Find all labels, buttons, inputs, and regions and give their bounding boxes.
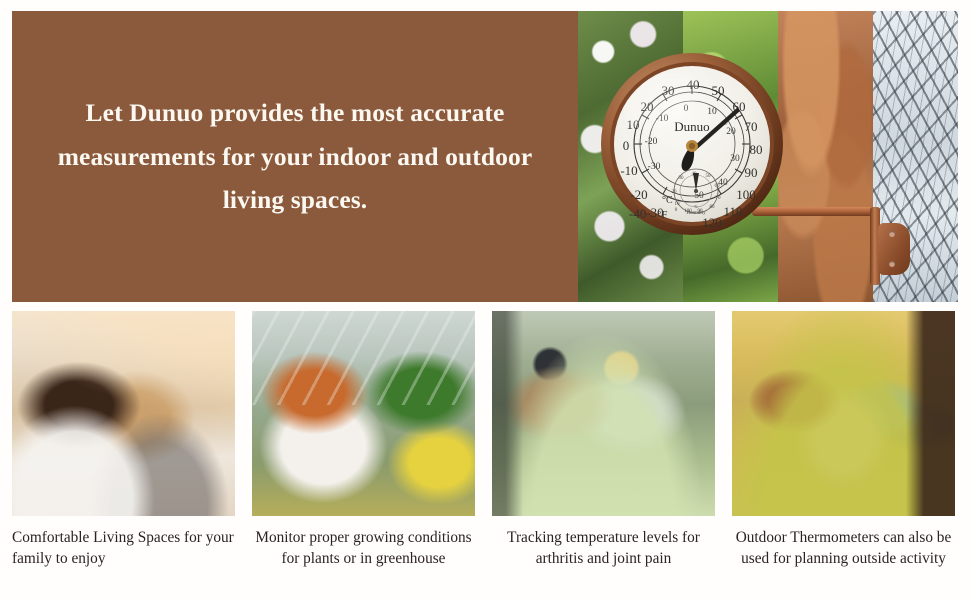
benefit-card-comfortable-living: Comfortable Living Spaces for your famil… [12, 311, 235, 570]
thermometer-wall-plate [878, 223, 910, 275]
card-caption: Monitor proper growing conditions for pl… [252, 527, 475, 570]
benefit-cards-row: Comfortable Living Spaces for your famil… [12, 311, 958, 570]
hero-headline: Let Dunuo provides the most accurate mea… [40, 91, 550, 223]
svg-text:Humidity: Humidity [686, 211, 706, 216]
svg-text:30: 30 [730, 154, 740, 164]
hero-text-panel: Let Dunuo provides the most accurate mea… [12, 11, 578, 302]
svg-text:100: 100 [736, 187, 756, 202]
card-caption: Outdoor Thermometers can also be used fo… [732, 527, 955, 570]
svg-text:°C: °C [662, 195, 673, 206]
svg-text:0: 0 [623, 138, 630, 153]
photo-seniors-on-bench [492, 311, 715, 516]
svg-text:120: 120 [702, 215, 722, 230]
benefit-card-greenhouse: Monitor proper growing conditions for pl… [252, 311, 475, 570]
product-infographic-page: Let Dunuo provides the most accurate mea… [0, 0, 970, 600]
hero-banner: Let Dunuo provides the most accurate mea… [12, 11, 958, 302]
hero-image-panel: 10 0 -10 -20 -30 20 30 40 50 60 70 80 90… [578, 11, 958, 302]
card-caption: Comfortable Living Spaces for your famil… [12, 527, 235, 570]
dial-thermometer: 10 0 -10 -20 -30 20 30 40 50 60 70 80 90… [599, 51, 785, 237]
svg-text:-10: -10 [620, 163, 637, 178]
svg-text:90: 90 [745, 165, 758, 180]
season-autumn-strip [778, 11, 873, 302]
svg-text:40: 40 [718, 178, 728, 188]
svg-text:70: 70 [745, 119, 758, 134]
svg-text:20: 20 [672, 190, 678, 195]
benefit-card-outdoor-planning: Outdoor Thermometers can also be used fo… [732, 311, 955, 570]
svg-text:60: 60 [715, 184, 721, 189]
benefit-card-arthritis: Tracking temperature levels for arthriti… [492, 311, 715, 570]
card-caption: Tracking temperature levels for arthriti… [492, 527, 715, 570]
svg-text:50: 50 [706, 174, 712, 179]
svg-text:-40: -40 [629, 206, 646, 221]
svg-text:30: 30 [679, 176, 685, 181]
svg-text:-20: -20 [630, 187, 647, 202]
svg-text:20: 20 [726, 127, 736, 137]
svg-text:80: 80 [710, 205, 716, 210]
svg-text:50: 50 [712, 83, 725, 98]
svg-text:110: 110 [723, 204, 742, 219]
svg-text:Dunuo: Dunuo [674, 119, 709, 134]
svg-text:-20: -20 [645, 137, 658, 147]
svg-text:°F: °F [657, 209, 668, 221]
svg-text:10: 10 [707, 107, 717, 117]
svg-text:80: 80 [750, 142, 763, 157]
photo-two-women-smiling [12, 311, 235, 516]
svg-text:%: % [694, 204, 698, 209]
photo-woman-in-greenhouse [252, 311, 475, 516]
svg-text:10: 10 [675, 202, 681, 207]
svg-text:-30: -30 [648, 162, 661, 172]
photo-family-running-with-dog [732, 311, 955, 516]
svg-text:70: 70 [716, 196, 722, 201]
